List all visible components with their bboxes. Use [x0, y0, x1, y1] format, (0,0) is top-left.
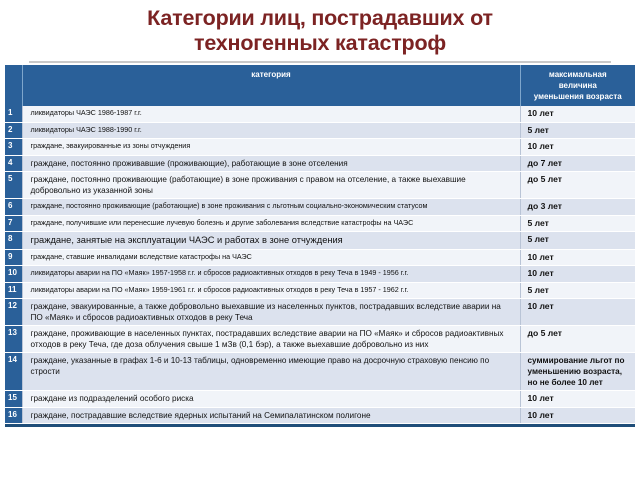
row-category-text: граждане, занятые на эксплуатации ЧАЭС и… [31, 234, 514, 247]
column-header-value-line-1: максимальная [523, 69, 634, 80]
row-number-cell: 7 [5, 215, 22, 232]
row-number-cell: 3 [5, 139, 22, 156]
row-category-text: граждане, указанные в графах 1-6 и 10-13… [31, 355, 514, 377]
row-number-cell: 11 [5, 282, 22, 299]
table-row: 6граждане, постоянно проживающие (работа… [5, 199, 635, 216]
table-row: 2ликвидаторы ЧАЭС 1988-1990 г.г.5 лет [5, 122, 635, 139]
row-category-text: ликвидаторы ЧАЭС 1986-1987 г.г. [31, 108, 514, 118]
row-category-text: ликвидаторы ЧАЭС 1988-1990 г.г. [31, 125, 514, 135]
table-row: 12граждане, эвакуированные, а также добр… [5, 299, 635, 326]
row-number-cell: 6 [5, 199, 22, 216]
table-body: 1ликвидаторы ЧАЭС 1986-1987 г.г.10 лет2л… [5, 106, 635, 424]
row-category-cell: граждане, постоянно проживающие (работаю… [22, 199, 520, 216]
column-header-value-line-3: уменьшения возраста [523, 91, 634, 102]
row-category-cell: граждане, эвакуированные, а также добров… [22, 299, 520, 326]
row-category-text: граждане из подразделений особого риска [31, 393, 514, 404]
row-category-cell: граждане, постоянно проживающие (работаю… [22, 172, 520, 199]
row-value-text: 10 лет [528, 252, 632, 264]
row-value-cell: 5 лет [520, 232, 635, 250]
row-category-cell: граждане, занятые на эксплуатации ЧАЭС и… [22, 232, 520, 250]
row-value-cell: до 7 лет [520, 155, 635, 172]
table-row: 11ликвидаторы аварии на ПО «Маяк» 1959-1… [5, 282, 635, 299]
row-number-cell: 4 [5, 155, 22, 172]
row-category-text: ликвидаторы аварии на ПО «Маяк» 1959-196… [31, 285, 514, 295]
row-value-text: 10 лет [528, 301, 632, 313]
row-category-text: граждане, эвакуированные, а также добров… [31, 301, 514, 323]
row-value-cell: 10 лет [520, 299, 635, 326]
row-category-text: граждане, постоянно проживающие (работаю… [31, 174, 514, 196]
row-number-cell: 1 [5, 106, 22, 122]
row-value-cell: 10 лет [520, 266, 635, 283]
row-category-cell: граждане, постоянно проживавшие (прожива… [22, 155, 520, 172]
table-row: 8граждане, занятые на эксплуатации ЧАЭС … [5, 232, 635, 250]
categories-table: категория максимальная величина уменьшен… [5, 65, 635, 424]
row-number-cell: 15 [5, 391, 22, 408]
row-category-text: граждане, постоянно проживавшие (прожива… [31, 158, 514, 169]
row-value-text: до 5 лет [528, 174, 632, 186]
row-category-cell: граждане из подразделений особого риска [22, 391, 520, 408]
table-row: 16граждане, пострадавшие вследствие ядер… [5, 407, 635, 424]
row-value-text: 10 лет [528, 410, 632, 422]
row-value-text: 10 лет [528, 141, 632, 153]
table-header: категория максимальная величина уменьшен… [5, 65, 635, 106]
row-category-text: граждане, постоянно проживающие (работаю… [31, 201, 514, 211]
row-number-cell: 2 [5, 122, 22, 139]
table-row: 4граждане, постоянно проживавшие (прожив… [5, 155, 635, 172]
row-value-text: 5 лет [528, 234, 632, 246]
row-value-cell: 5 лет [520, 215, 635, 232]
title-divider [29, 61, 611, 63]
table-row: 14граждане, указанные в графах 1-6 и 10-… [5, 353, 635, 391]
table-row: 15граждане из подразделений особого риск… [5, 391, 635, 408]
row-value-cell: до 5 лет [520, 172, 635, 199]
row-category-text: ликвидаторы аварии на ПО «Маяк» 1957-195… [31, 268, 514, 278]
row-value-cell: 5 лет [520, 282, 635, 299]
row-category-cell: граждане, указанные в графах 1-6 и 10-13… [22, 353, 520, 391]
row-value-cell: 10 лет [520, 139, 635, 156]
row-value-text: 5 лет [528, 125, 632, 137]
row-number-cell: 8 [5, 232, 22, 250]
row-number-cell: 14 [5, 353, 22, 391]
page-title-line-2: техногенных катастроф [40, 31, 600, 56]
table-row: 13граждане, проживающие в населенных пун… [5, 326, 635, 353]
row-value-cell: до 5 лет [520, 326, 635, 353]
table-header-row: категория максимальная величина уменьшен… [5, 65, 635, 106]
row-value-text: до 5 лет [528, 328, 632, 340]
row-category-text: граждане, получившие или перенесшие луче… [31, 218, 514, 228]
table-row: 7граждане, получившие или перенесшие луч… [5, 215, 635, 232]
row-value-cell: 10 лет [520, 391, 635, 408]
row-value-text: до 7 лет [528, 158, 632, 170]
row-value-text: 10 лет [528, 268, 632, 280]
table-row: 9граждане, ставшие инвалидами вследствие… [5, 249, 635, 266]
column-header-number [5, 65, 22, 106]
row-value-cell: суммирование льгот по уменьшению возраст… [520, 353, 635, 391]
column-header-value: максимальная величина уменьшения возраст… [520, 65, 635, 106]
row-value-text: до 3 лет [528, 201, 632, 213]
row-value-cell: 10 лет [520, 249, 635, 266]
table-row: 10ликвидаторы аварии на ПО «Маяк» 1957-1… [5, 266, 635, 283]
row-number-cell: 10 [5, 266, 22, 283]
table-row: 1ликвидаторы ЧАЭС 1986-1987 г.г.10 лет [5, 106, 635, 122]
row-value-cell: 10 лет [520, 407, 635, 424]
row-category-cell: ликвидаторы аварии на ПО «Маяк» 1957-195… [22, 266, 520, 283]
row-value-text: суммирование льгот по уменьшению возраст… [528, 355, 632, 388]
row-number-cell: 9 [5, 249, 22, 266]
row-category-cell: ликвидаторы аварии на ПО «Маяк» 1959-196… [22, 282, 520, 299]
row-number-cell: 12 [5, 299, 22, 326]
row-category-cell: граждане, проживающие в населенных пункт… [22, 326, 520, 353]
row-category-cell: ликвидаторы ЧАЭС 1988-1990 г.г. [22, 122, 520, 139]
row-category-cell: граждане, эвакуированные из зоны отчужде… [22, 139, 520, 156]
row-category-text: граждане, ставшие инвалидами вследствие … [31, 252, 514, 262]
row-value-text: 5 лет [528, 218, 632, 230]
row-value-cell: до 3 лет [520, 199, 635, 216]
column-header-category: категория [22, 65, 520, 106]
column-header-value-line-2: величина [523, 80, 634, 91]
row-number-cell: 13 [5, 326, 22, 353]
row-value-cell: 10 лет [520, 106, 635, 122]
row-category-cell: граждане, получившие или перенесшие луче… [22, 215, 520, 232]
row-number-cell: 5 [5, 172, 22, 199]
slide-root: Категории лиц, пострадавших от техногенн… [0, 0, 640, 480]
row-value-text: 10 лет [528, 393, 632, 405]
page-title: Категории лиц, пострадавших от техногенн… [0, 0, 640, 58]
table-row: 5граждане, постоянно проживающие (работа… [5, 172, 635, 199]
row-value-text: 5 лет [528, 285, 632, 297]
row-category-cell: граждане, ставшие инвалидами вследствие … [22, 249, 520, 266]
categories-table-wrap: категория максимальная величина уменьшен… [5, 65, 635, 427]
page-title-line-1: Категории лиц, пострадавших от [40, 6, 600, 31]
row-category-cell: граждане, пострадавшие вследствие ядерны… [22, 407, 520, 424]
row-category-text: граждане, пострадавшие вследствие ядерны… [31, 410, 514, 421]
row-number-cell: 16 [5, 407, 22, 424]
table-row: 3граждане, эвакуированные из зоны отчужд… [5, 139, 635, 156]
row-category-cell: ликвидаторы ЧАЭС 1986-1987 г.г. [22, 106, 520, 122]
row-category-text: граждане, проживающие в населенных пункт… [31, 328, 514, 350]
row-value-cell: 5 лет [520, 122, 635, 139]
row-category-text: граждане, эвакуированные из зоны отчужде… [31, 141, 514, 151]
row-value-text: 10 лет [528, 108, 632, 120]
